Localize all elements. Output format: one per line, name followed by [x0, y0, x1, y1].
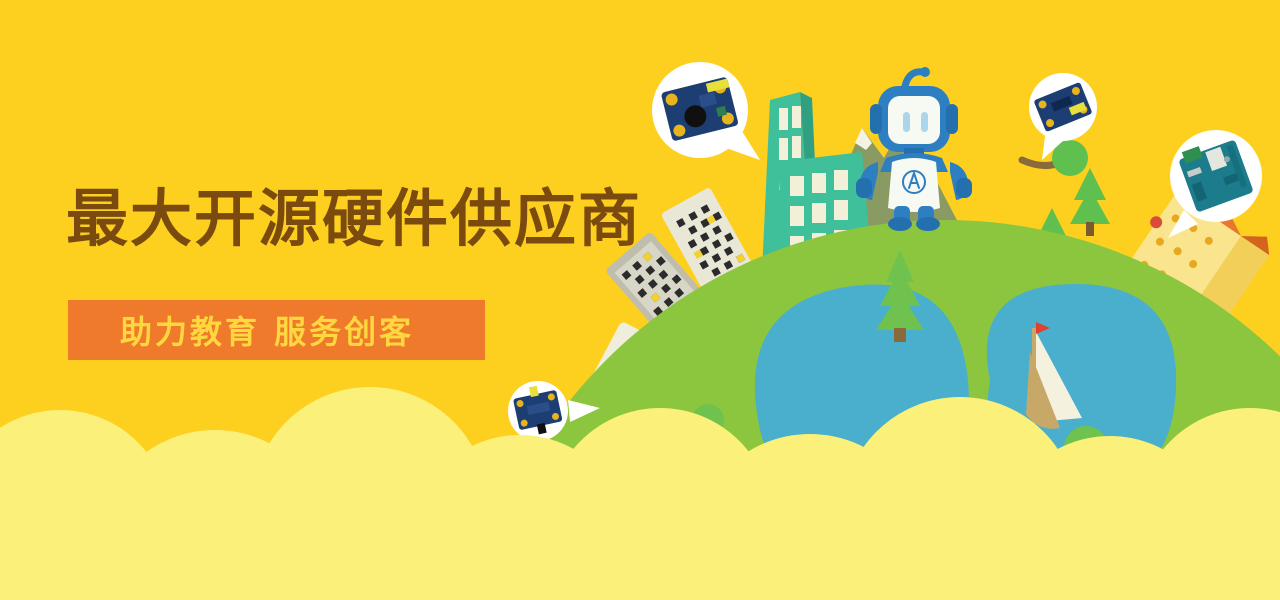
- page-title: 最大开源硬件供应商: [66, 188, 642, 250]
- status-badge-label: 助力教育 服务创客: [120, 307, 414, 353]
- promo-banner: 最大开源硬件供应商 助力教育 服务创客: [0, 0, 1280, 600]
- robot-eye-right: [921, 112, 928, 132]
- robot-eye-left: [903, 112, 910, 132]
- status-badge: 助力教育 服务创客: [68, 300, 485, 360]
